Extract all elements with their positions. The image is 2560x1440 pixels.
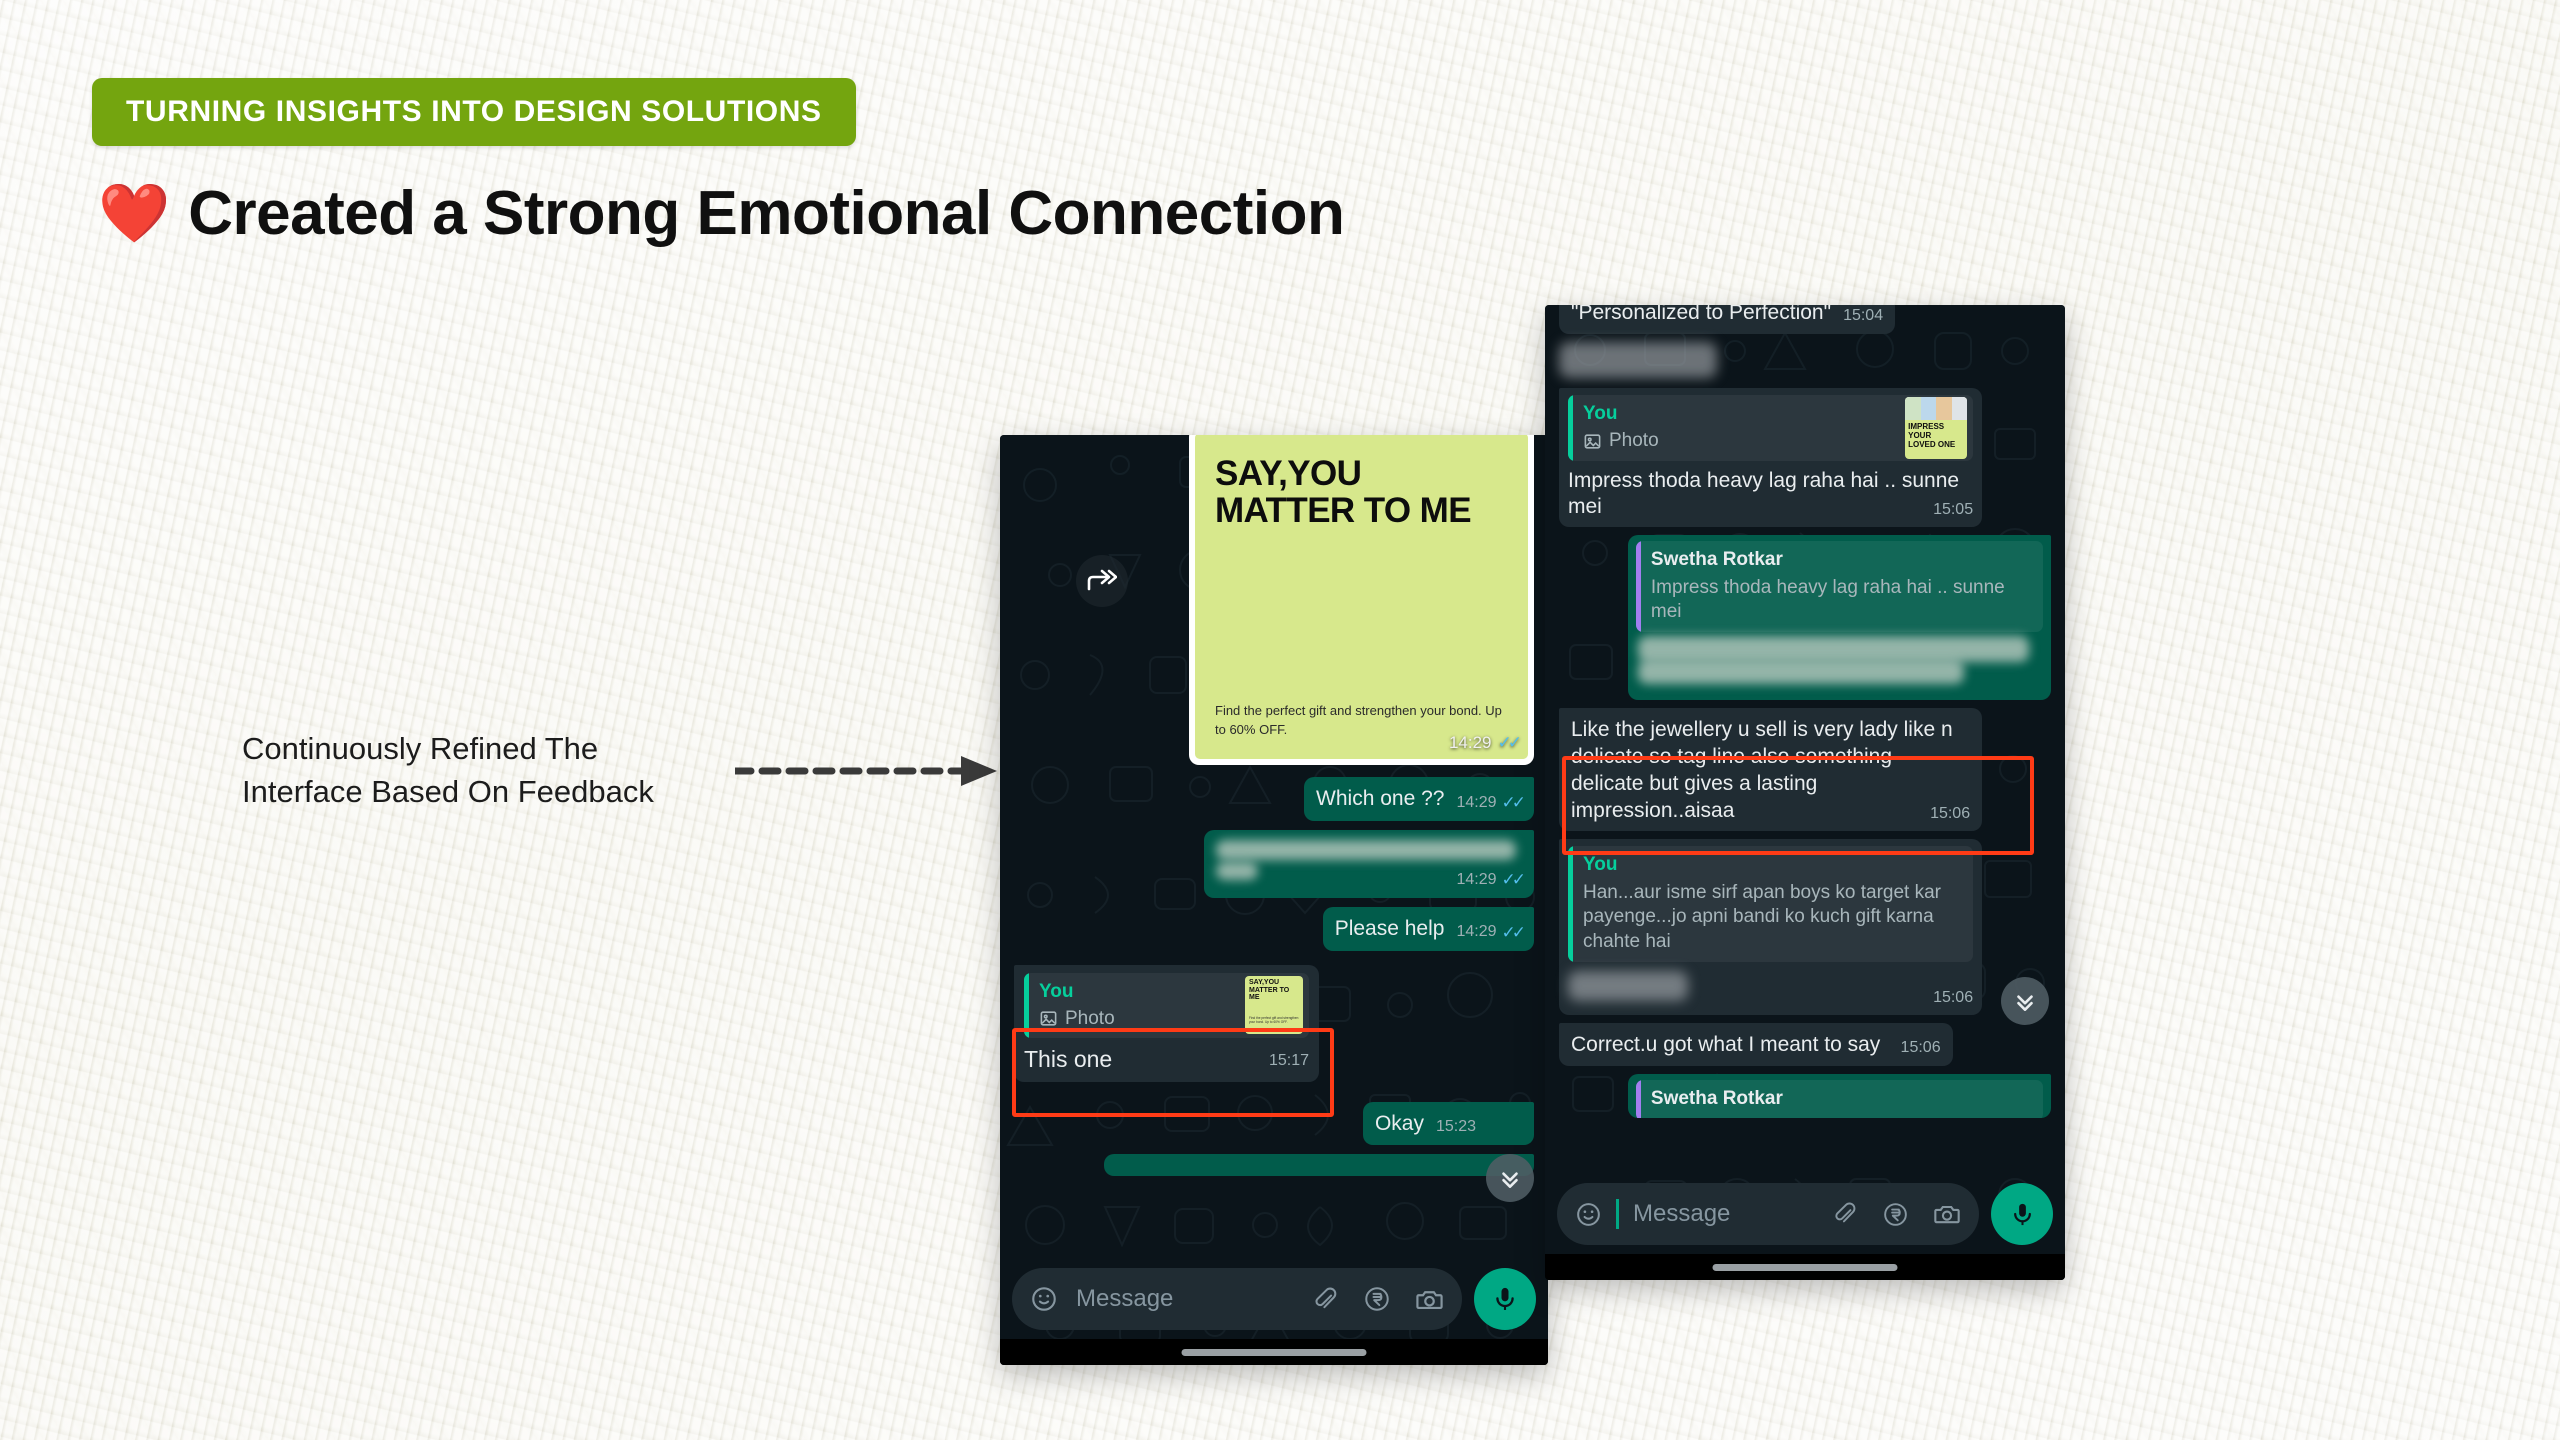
phone-mockup-1: SAY,YOU MATTER TO ME Find the perfect gi… [1000, 435, 1548, 1365]
mini-line-2: YOUR [1908, 431, 1964, 440]
thumb-icon-strip [1905, 397, 1967, 421]
read-receipt-icon: ✓✓ [1498, 733, 1519, 753]
photo-icon [1583, 432, 1602, 451]
microphone-icon [1491, 1285, 1519, 1313]
voice-record-button[interactable] [1474, 1268, 1536, 1330]
redaction-overlay [1638, 660, 1964, 684]
message-text: Like the jewellery u sell is very lady l… [1571, 718, 1953, 822]
poster-title: SAY,YOU MATTER TO ME [1215, 455, 1508, 529]
mini-line-3: LOVED ONE [1908, 440, 1964, 449]
message-time: 15:06 [1930, 804, 1970, 824]
camera-icon[interactable] [1933, 1200, 1961, 1228]
chat-bubble-outgoing[interactable]: Which one ?? 14:29 ✓✓ [1304, 777, 1534, 821]
message-text: "Personalized to Perfection" [1571, 305, 1831, 324]
message-meta: 15:06 [1933, 988, 1973, 1008]
message-time: 14:29 [1456, 922, 1496, 942]
redaction-overlay [1216, 862, 1258, 880]
annotation-text: Continuously Refined The Interface Based… [242, 728, 712, 814]
quote-body: You Photo [1573, 395, 1905, 461]
strip-cell [1936, 397, 1952, 421]
page-title: ❤️ Created a Strong Emotional Connection [98, 178, 1344, 249]
chat-bubble-incoming-redacted[interactable] [1559, 340, 1719, 382]
message-row: You Photo [1559, 388, 2051, 527]
chevron-double-down-icon [1497, 1165, 1523, 1191]
message-row: Like the jewellery u sell is very lady l… [1559, 708, 2051, 832]
quote-body: You Han...aur isme sirf apan boys ko tar… [1573, 846, 1973, 961]
photo-icon [1039, 1009, 1058, 1028]
message-meta: 14:29 ✓✓ [1456, 792, 1522, 814]
dashed-arrow-connector [735, 748, 1000, 794]
section-tag-pill: TURNING INSIGHTS INTO DESIGN SOLUTIONS [92, 78, 856, 146]
redaction-overlay [1568, 971, 1688, 1001]
message-time: 15:06 [1901, 1038, 1941, 1058]
chat-bubble-quoted-this-one[interactable]: You Photo SAY,YOU MATTER TO ME [1014, 965, 1319, 1083]
redacted-body-area: 15:06 [1568, 969, 1973, 1009]
strip-cell [1952, 397, 1968, 421]
heart-icon: ❤️ [98, 185, 170, 243]
message-input-placeholder[interactable]: Message [1072, 1285, 1298, 1313]
chat-bubble-outgoing-redacted[interactable]: 14:29 ✓✓ [1204, 830, 1534, 898]
home-indicator [1713, 1264, 1898, 1271]
quote-body: You Photo [1029, 973, 1245, 1039]
poster-image-bubble[interactable]: SAY,YOU MATTER TO ME Find the perfect gi… [1189, 435, 1534, 765]
chat-bubble-incoming[interactable]: Correct.u got what I meant to say 15:06 [1559, 1023, 1953, 1066]
quoted-reply-block[interactable]: Swetha Rotkar [1636, 1080, 2043, 1118]
chat-bubble-quoted-impress[interactable]: You Photo [1559, 388, 1982, 527]
mini-poster-sub: Find the perfect gift and strengthen you… [1249, 1016, 1299, 1024]
message-row-partial: Swetha Rotkar [1559, 1074, 2051, 1118]
annotation-line-2: Interface Based On Feedback [242, 771, 712, 814]
message-meta: 15:05 [1933, 500, 1973, 520]
chat-message-list-1: SAY,YOU MATTER TO ME Find the perfect gi… [1000, 435, 1548, 1185]
message-meta: 15:04 [1843, 306, 1883, 326]
message-time: 15:06 [1933, 988, 1973, 1008]
paperclip-icon[interactable] [1832, 1201, 1858, 1227]
mini-poster: SAY,YOU MATTER TO ME Find the perfect gi… [1245, 976, 1303, 1034]
message-text: Correct.u got what I meant to say [1571, 1033, 1880, 1056]
message-time: 14:29 [1449, 733, 1492, 753]
message-row [1559, 340, 2051, 382]
message-row: Swetha Rotkar Impress thoda heavy lag ra… [1559, 535, 2051, 700]
annotation-line-1: Continuously Refined The [242, 731, 598, 766]
chat-bubble-outgoing-partial[interactable] [1104, 1154, 1534, 1176]
quote-attachment-line: Photo [1039, 1007, 1235, 1031]
rupee-payment-icon[interactable] [1363, 1285, 1391, 1313]
quote-author: You [1583, 853, 1963, 877]
text-cursor [1616, 1199, 1619, 1229]
chat-bubble-highlighted[interactable]: Like the jewellery u sell is very lady l… [1559, 708, 1982, 832]
message-time: 15:05 [1933, 500, 1973, 520]
message-row: "Personalized to Perfection" 15:04 [1559, 305, 2051, 334]
chat-bubble-incoming[interactable]: "Personalized to Perfection" 15:04 [1559, 305, 1895, 334]
phone-mockup-2: "Personalized to Perfection" 15:04 [1545, 305, 2065, 1280]
message-meta: 14:29 ✓✓ [1456, 922, 1522, 944]
message-input-pill[interactable]: Message [1012, 1268, 1462, 1330]
message-input-placeholder[interactable]: Message [1633, 1200, 1818, 1228]
message-time: 14:29 [1456, 870, 1496, 890]
message-time: 15:23 [1436, 1117, 1476, 1137]
message-row: You Han...aur isme sirf apan boys ko tar… [1559, 839, 2051, 1014]
mini-line-1: IMPRESS [1908, 422, 1964, 431]
quote-attachment-label: Photo [1609, 429, 1659, 453]
message-text: Please help [1335, 917, 1445, 940]
chat-bubble-reply-you[interactable]: You Han...aur isme sirf apan boys ko tar… [1559, 839, 1982, 1014]
message-row: Okay 15:23 [1014, 1102, 1534, 1145]
redaction-overlay [1559, 342, 1717, 378]
message-meta: 15:06 [1930, 804, 1970, 824]
chat-bubble-outgoing-quoted[interactable]: Swetha Rotkar Impress thoda heavy lag ra… [1628, 535, 2051, 700]
message-row-partial [1014, 1154, 1534, 1176]
read-receipt-icon: ✓✓ [1502, 869, 1523, 891]
paperclip-icon[interactable] [1312, 1286, 1339, 1313]
message-meta: 15:17 [1269, 1051, 1309, 1071]
quote-body: Swetha Rotkar [1641, 1080, 2043, 1118]
section-tag-label: TURNING INSIGHTS INTO DESIGN SOLUTIONS [126, 95, 822, 129]
quote-author: Swetha Rotkar [1651, 1087, 2033, 1111]
redaction-overlay [1216, 840, 1516, 860]
chat-bubble-outgoing[interactable]: Please help 14:29 ✓✓ [1323, 907, 1534, 951]
message-row: You Photo SAY,YOU MATTER TO ME [1014, 965, 1534, 1083]
quote-thumbnail: SAY,YOU MATTER TO ME Find the perfect gi… [1245, 976, 1303, 1034]
quoted-reply-block[interactable]: Swetha Rotkar Impress thoda heavy lag ra… [1636, 541, 2043, 632]
quote-attachment-line: Photo [1583, 429, 1895, 453]
message-text: Impress thoda heavy lag raha hai .. sunn… [1568, 469, 1959, 519]
redaction-overlay [1638, 636, 2029, 662]
quote-author: Swetha Rotkar [1651, 548, 2033, 572]
quote-body: Swetha Rotkar Impress thoda heavy lag ra… [1641, 541, 2043, 632]
message-row: Correct.u got what I meant to say 15:06 [1559, 1023, 2051, 1066]
home-indicator [1182, 1349, 1367, 1356]
quoted-reply-block[interactable]: You Photo [1568, 395, 1973, 461]
mini-impress-poster: IMPRESS YOUR LOVED ONE [1905, 397, 1967, 459]
strip-cell [1905, 397, 1921, 421]
poster-card: SAY,YOU MATTER TO ME Find the perfect gi… [1195, 435, 1528, 759]
chat-bubble-outgoing-partial[interactable]: Swetha Rotkar [1628, 1074, 2051, 1118]
scroll-to-bottom-button[interactable] [2001, 977, 2049, 1025]
mini-impress-lines: IMPRESS YOUR LOVED ONE [1905, 420, 1967, 458]
message-text: Which one ?? [1316, 787, 1444, 810]
forward-arrow-icon[interactable] [1076, 555, 1128, 607]
quoted-reply-block[interactable]: You Han...aur isme sirf apan boys ko tar… [1568, 846, 1973, 961]
rupee-payment-icon[interactable] [1882, 1201, 1909, 1228]
message-meta: 15:06 [1901, 1038, 1941, 1058]
quote-attachment-label: Photo [1065, 1007, 1115, 1031]
read-receipt-icon: ✓✓ [1502, 922, 1523, 944]
message-row: Which one ?? 14:29 ✓✓ [1014, 777, 1534, 821]
redacted-body-area [1636, 632, 2043, 694]
emoji-sticker-icon[interactable] [1575, 1201, 1602, 1228]
message-input-pill[interactable]: Message [1557, 1183, 1979, 1245]
message-text: Okay [1375, 1112, 1424, 1135]
message-row: Please help 14:29 ✓✓ [1014, 907, 1534, 951]
read-receipt-icon: ✓✓ [1502, 792, 1523, 814]
quote-text: Impress thoda heavy lag raha hai .. sunn… [1651, 576, 2033, 625]
voice-record-button[interactable] [1991, 1183, 2053, 1245]
chevron-double-down-icon [2012, 988, 2038, 1014]
message-meta: 14:29 ✓✓ [1456, 869, 1522, 891]
emoji-sticker-icon[interactable] [1030, 1285, 1058, 1313]
message-text: This one [1024, 1046, 1112, 1072]
microphone-icon [2009, 1201, 2036, 1228]
quote-author: You [1583, 402, 1895, 426]
scroll-to-bottom-button[interactable] [1486, 1154, 1534, 1202]
message-meta: 14:29 ✓✓ [1449, 733, 1518, 753]
camera-icon[interactable] [1415, 1285, 1444, 1314]
message-meta: 15:23 [1436, 1117, 1476, 1137]
message-row: 14:29 ✓✓ [1014, 830, 1534, 898]
quote-author: You [1039, 980, 1235, 1004]
message-time: 14:29 [1456, 793, 1496, 813]
quote-thumbnail: IMPRESS YOUR LOVED ONE [1905, 397, 1967, 459]
mini-poster-title: SAY,YOU MATTER TO ME [1249, 979, 1289, 1001]
quote-text: Han...aur isme sirf apan boys ko target … [1583, 881, 1963, 955]
message-time: 15:04 [1843, 306, 1883, 326]
page-title-text: Created a Strong Emotional Connection [188, 178, 1344, 249]
strip-cell [1921, 397, 1937, 421]
chat-message-list-2: "Personalized to Perfection" 15:04 [1545, 305, 2065, 1127]
message-time: 15:17 [1269, 1051, 1309, 1071]
chat-bubble-outgoing[interactable]: Okay 15:23 [1363, 1102, 1534, 1145]
quoted-reply-block[interactable]: You Photo SAY,YOU MATTER TO ME [1024, 973, 1309, 1039]
